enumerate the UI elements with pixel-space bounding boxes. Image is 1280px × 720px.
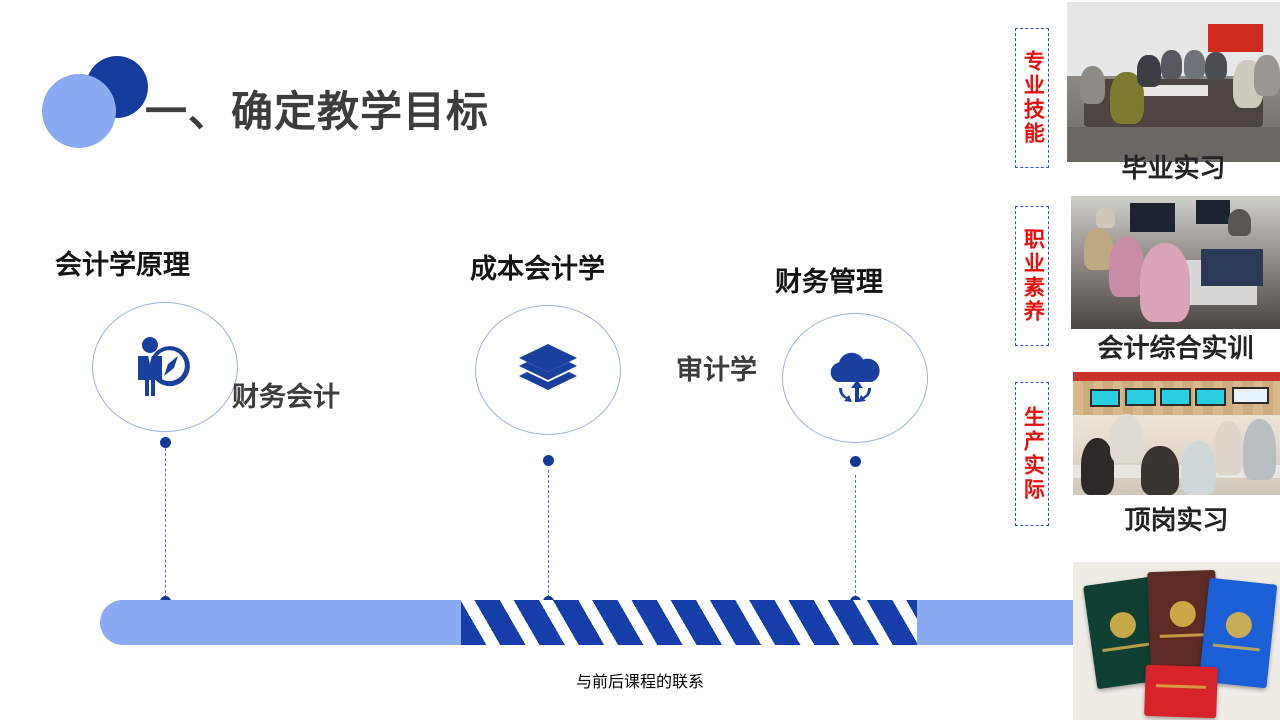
light-circle-icon: [42, 74, 116, 148]
on-the-job-internship-photo: [1073, 372, 1280, 495]
slide-canvas: 一、确定教学目标 会计学原理 财务会计 成本会计学: [0, 0, 1280, 720]
tag-box-3: 生产实际: [1015, 382, 1049, 526]
timeline-bar-striped: [461, 600, 918, 645]
photo-caption-3: 顶岗实习: [1073, 500, 1280, 537]
photo-caption-2: 会计综合实训: [1071, 328, 1280, 365]
page-title: 一、确定教学目标: [145, 78, 489, 139]
node-2-bubble: [475, 305, 621, 435]
node-1-bubble: [92, 302, 238, 432]
node-1-dot-top: [160, 437, 171, 448]
node-3-side-label: 审计学: [676, 348, 757, 387]
right-column: 专业技能 毕业实习 职业素养: [1005, 0, 1280, 720]
node-2-stem: [548, 470, 549, 603]
tag-label-3: 生产实际: [1021, 406, 1044, 502]
accounting-lab-photo: [1071, 196, 1280, 329]
node-2-dot-top: [543, 455, 554, 466]
node-1-stem: [165, 448, 166, 603]
certificate-red: [1144, 665, 1218, 718]
vocational-certificates-photo: [1073, 562, 1280, 720]
tag-label-1: 专业技能: [1021, 50, 1044, 146]
cloud-arrows-icon: [783, 314, 927, 442]
node-1-side-label: 财务会计: [232, 375, 340, 414]
title-decoration: [34, 56, 144, 148]
layers-icon: [476, 306, 620, 434]
node-3-stem: [855, 475, 856, 603]
photo-caption-1: 毕业实习: [1067, 148, 1280, 185]
node-3-top-label: 财务管理: [775, 260, 883, 299]
graduation-internship-photo: [1067, 2, 1280, 162]
businessman-compass-icon: [93, 303, 237, 431]
node-2-top-label: 成本会计学: [470, 247, 605, 286]
node-3-bubble: [782, 313, 928, 443]
timeline-caption-wrap: 与前后课程的联系: [330, 668, 950, 692]
tag-label-2: 职业素养: [1021, 228, 1044, 324]
timeline-bar-left: [100, 600, 462, 645]
tag-box-2: 职业素养: [1015, 206, 1049, 346]
node-3-dot-top: [850, 456, 861, 467]
tag-box-1: 专业技能: [1015, 28, 1049, 168]
timeline-caption: 与前后课程的联系: [576, 674, 704, 691]
node-1-top-label: 会计学原理: [55, 243, 190, 282]
